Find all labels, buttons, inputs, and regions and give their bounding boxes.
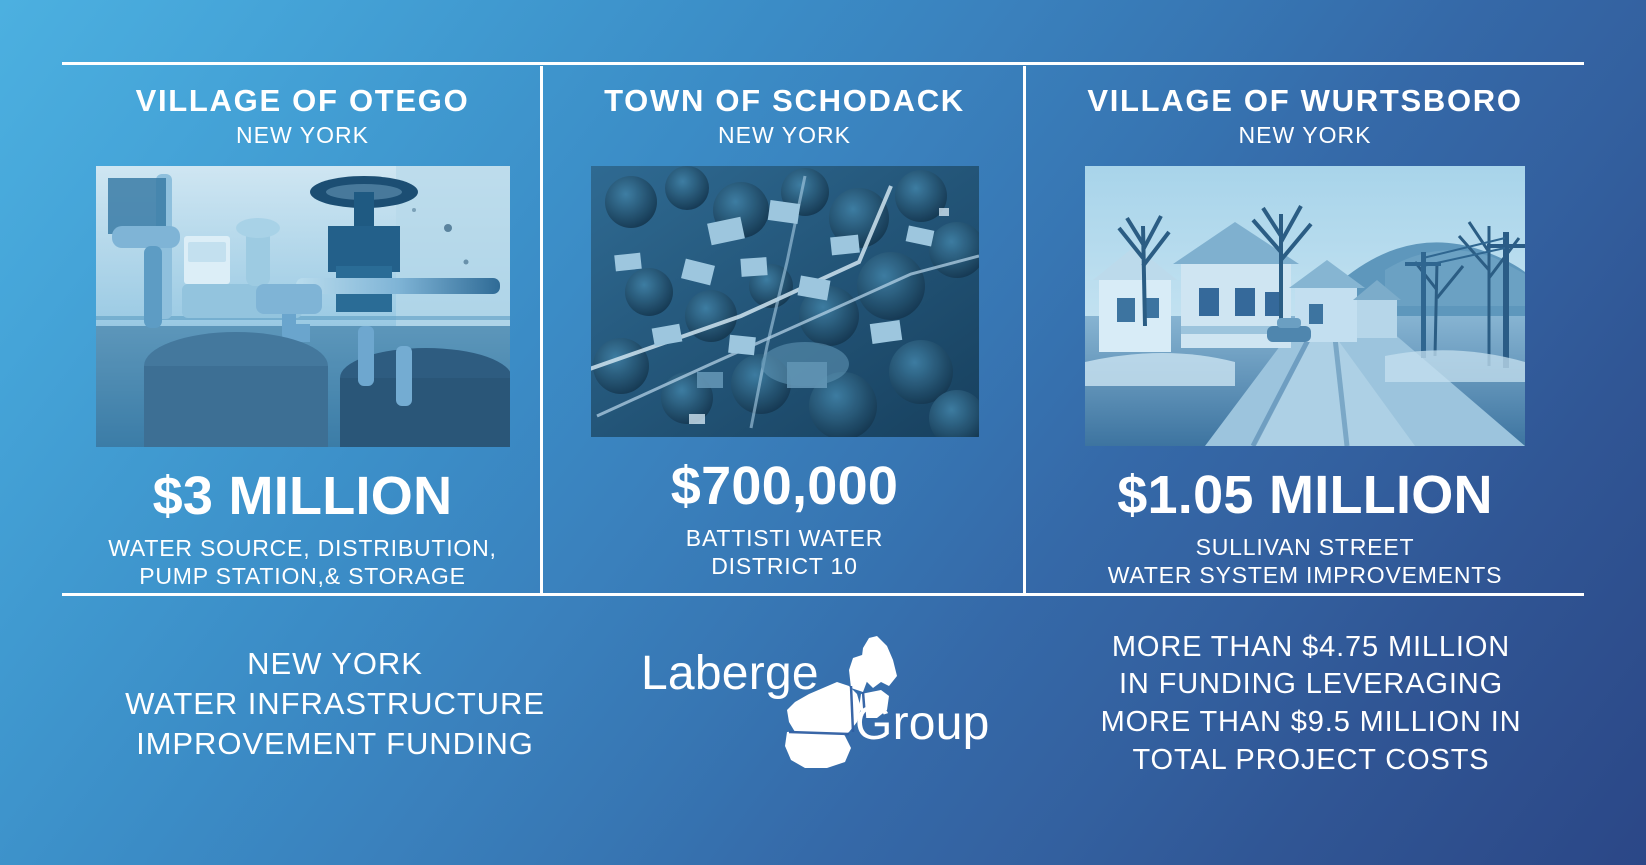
footer-right: MORE THAN $4.75 MILLION IN FUNDING LEVER… (1038, 629, 1584, 780)
project-description: WATER SOURCE, DISTRIBUTION, PUMP STATION… (108, 534, 496, 590)
project-state: NEW YORK (1238, 122, 1371, 150)
project-card-otego: VILLAGE OF OTEGO NEW YORK (62, 66, 543, 593)
project-photo-schodack (591, 166, 979, 437)
project-title: TOWN OF SCHODACK (604, 84, 965, 119)
project-photo-wurtsboro (1085, 166, 1525, 446)
logo-word-group: Group (855, 696, 990, 751)
project-amount: $700,000 (671, 459, 898, 513)
aerial-neighborhood-photo (591, 166, 979, 437)
project-amount: $3 MILLION (153, 469, 453, 523)
total-funding-text: MORE THAN $4.75 MILLION IN FUNDING LEVER… (1101, 629, 1522, 780)
divider-top (62, 62, 1584, 65)
project-amount: $1.05 MILLION (1117, 468, 1493, 522)
laberge-group-logo: Laberge (633, 634, 1013, 774)
project-columns: VILLAGE OF OTEGO NEW YORK (62, 66, 1584, 593)
footer-band: NEW YORK WATER INFRASTRUCTURE IMPROVEMEN… (62, 599, 1584, 809)
infographic-canvas: VILLAGE OF OTEGO NEW YORK (0, 0, 1646, 865)
project-description: SULLIVAN STREET WATER SYSTEM IMPROVEMENT… (1108, 533, 1503, 589)
footer-left: NEW YORK WATER INFRASTRUCTURE IMPROVEMEN… (62, 644, 608, 763)
project-card-wurtsboro: VILLAGE OF WURTSBORO NEW YORK (1026, 66, 1584, 593)
project-state: NEW YORK (236, 122, 369, 150)
project-description: BATTISTI WATER DISTRICT 10 (686, 524, 883, 580)
funding-program-text: NEW YORK WATER INFRASTRUCTURE IMPROVEMEN… (125, 644, 545, 763)
divider-bottom (62, 593, 1584, 596)
project-photo-otego (96, 166, 510, 447)
project-title: VILLAGE OF OTEGO (136, 84, 470, 119)
project-card-schodack: TOWN OF SCHODACK NEW YORK (543, 66, 1026, 593)
project-state: NEW YORK (718, 122, 851, 150)
footer-logo-area: Laberge (608, 634, 1038, 774)
project-title: VILLAGE OF WURTSBORO (1087, 84, 1522, 119)
water-pump-station-piping-photo (96, 166, 510, 447)
winter-street-houses-photo (1085, 166, 1525, 446)
